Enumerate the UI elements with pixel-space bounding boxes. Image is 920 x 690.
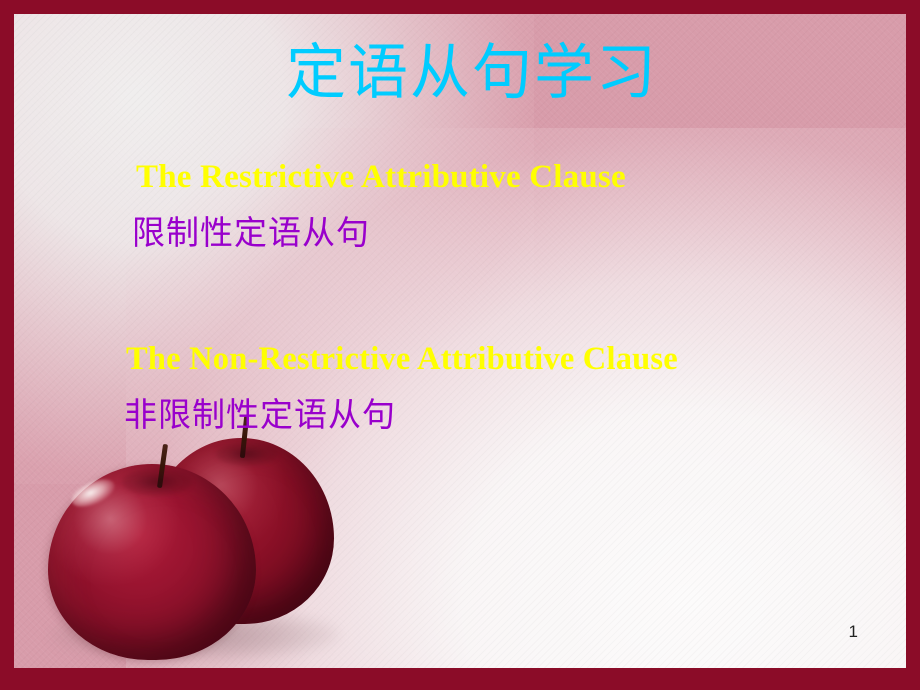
heading-restrictive-cn: 限制性定语从句: [132, 216, 370, 249]
heading-non-restrictive-en: The Non-Restrictive Attributive Clause: [126, 343, 678, 376]
page-number: 1: [849, 623, 858, 640]
slide: 定语从句学习 The Restrictive Attributive Claus…: [0, 0, 920, 690]
slide-canvas: 定语从句学习 The Restrictive Attributive Claus…: [14, 14, 906, 668]
slide-title: 定语从句学习: [14, 42, 906, 105]
heading-non-restrictive-cn: 非限制性定语从句: [124, 398, 396, 431]
heading-restrictive-en: The Restrictive Attributive Clause: [136, 161, 626, 194]
slide-content: 定语从句学习 The Restrictive Attributive Claus…: [14, 14, 906, 668]
